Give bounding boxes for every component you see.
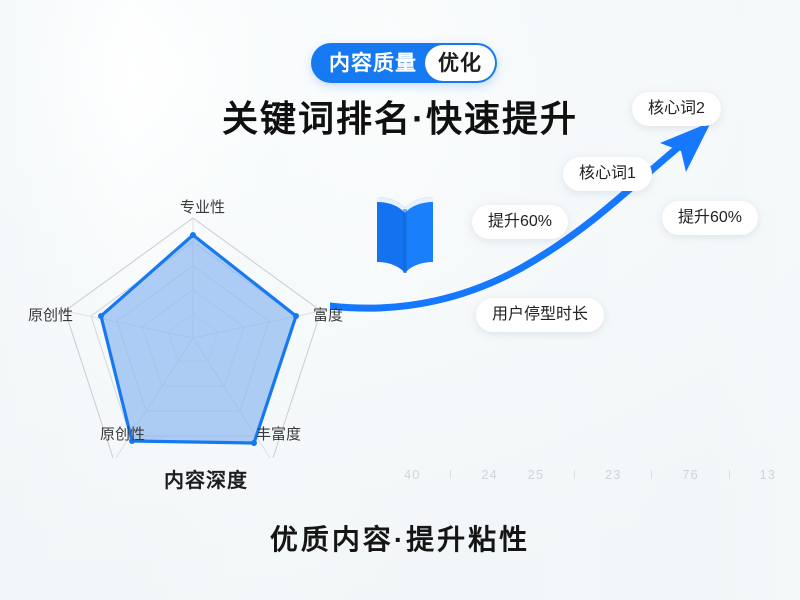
scale-value-0: 40 (404, 467, 420, 482)
radar-chart: 专业性 富度 丰富度 原创性 原创性 (28, 188, 358, 458)
radar-axis-label-left: 原创性 (28, 304, 73, 325)
footer-tagline: 优质内容·提升粘性 (0, 518, 800, 558)
radar-chart-svg (28, 188, 358, 458)
pill-uplift-right[interactable]: 提升60% (662, 201, 758, 235)
radar-axis-label-top: 专业性 (180, 196, 225, 217)
radar-series (98, 232, 299, 446)
scale-value-3: 23 (605, 467, 621, 482)
scale-value-1: 24 (481, 467, 497, 482)
poster-canvas: 内容质量 优化 关键词排名·快速提升 (0, 0, 800, 600)
scale-tick (450, 470, 451, 479)
scale-tick (574, 470, 575, 479)
pill-user-dwell-time[interactable]: 用户停型时长 (476, 298, 604, 332)
scale-value-2: 25 (528, 467, 544, 482)
radar-axis-label-bottom-right: 丰富度 (256, 423, 301, 444)
scale-value-4: 76 (682, 467, 698, 482)
pill-core-keyword-2[interactable]: 核心词2 (632, 92, 721, 126)
badge-chip-label: 优化 (425, 45, 495, 81)
scale-strip: 40 24 25 23 76 13 (404, 463, 776, 485)
pill-core-keyword-1[interactable]: 核心词1 (563, 157, 652, 191)
scale-tick (651, 470, 652, 479)
scale-tick (729, 470, 730, 479)
content-quality-badge[interactable]: 内容质量 优化 (311, 43, 497, 83)
content-depth-label: 内容深度 (164, 464, 248, 493)
badge-main-label: 内容质量 (311, 43, 425, 83)
open-book-icon (371, 190, 439, 276)
radar-axis-label-bottom-left: 原创性 (100, 423, 145, 444)
pill-uplift-left[interactable]: 提升60% (472, 205, 568, 239)
radar-axis-label-right: 富度 (313, 304, 343, 325)
scale-value-5: 13 (760, 467, 776, 482)
